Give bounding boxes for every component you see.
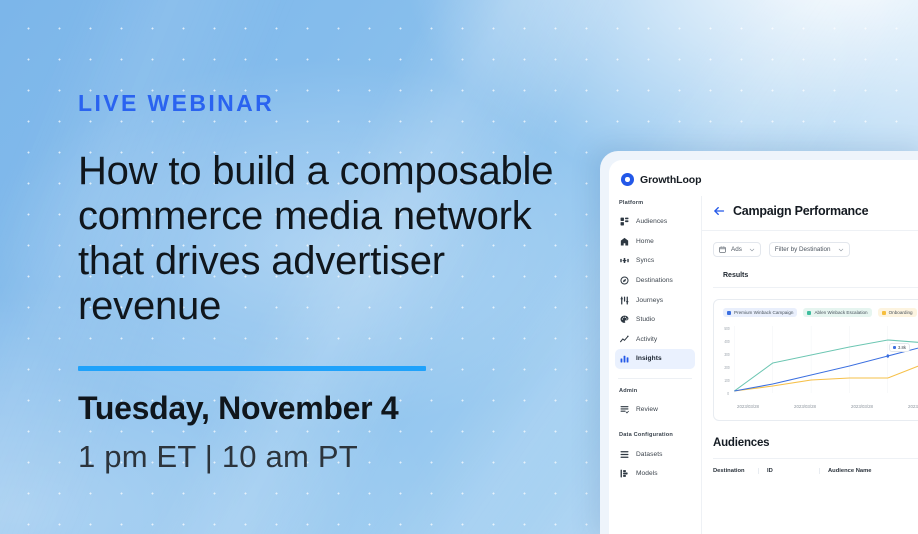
sidebar-group-label-admin: Admin [609, 388, 701, 400]
destination-filter-value: Filter by Destination [775, 246, 831, 253]
legend-item[interactable]: Ablen Winback Escalation [803, 308, 871, 317]
webinar-promo-graphic: LIVE WEBINAR How to build a composable c… [0, 0, 918, 534]
x-tick-label: 2023/03/28 [794, 404, 851, 409]
chevron-down-icon [838, 247, 844, 253]
growthloop-logo-icon [621, 173, 634, 186]
chart-x-axis: 2023/03/28 2023/03/28 2023/03/28 2023/03… [723, 404, 918, 409]
page-title: How to build a composable commerce media… [78, 149, 568, 329]
x-tick-label: 2023/03/28 [908, 404, 918, 409]
app-window: GrowthLoop Platform Audiences Home [609, 160, 918, 534]
legend-swatch [882, 311, 886, 315]
chart-tooltip: 3.8k [889, 343, 910, 352]
sidebar-item-label: Activity [636, 336, 657, 343]
event-time: 1 pm ET | 10 am PT [78, 437, 358, 477]
datasets-icon [620, 450, 629, 459]
sidebar-item-label: Destinations [636, 277, 673, 284]
sidebar-item-label: Audiences [636, 218, 667, 225]
models-icon [620, 469, 629, 478]
date-range-select[interactable]: Ads [713, 242, 761, 257]
insights-icon [620, 354, 629, 363]
svg-text:0: 0 [727, 392, 729, 397]
results-label: Results [702, 257, 918, 287]
sidebar-item-label: Home [636, 238, 654, 245]
chart-plot-area: 500 400 300 200 100 0 [723, 324, 918, 416]
calendar-icon [719, 246, 726, 253]
audiences-icon [620, 217, 629, 226]
svg-text:500: 500 [724, 327, 729, 332]
journeys-icon [620, 296, 629, 305]
sidebar-item-destinations[interactable]: Destinations [615, 271, 695, 291]
sidebar-item-label: Syncs [636, 257, 654, 264]
svg-text:200: 200 [724, 366, 729, 371]
sidebar-item-syncs[interactable]: Syncs [615, 251, 695, 271]
chevron-down-icon [749, 247, 755, 253]
sidebar-item-insights[interactable]: Insights [615, 349, 695, 369]
sidebar-item-journeys[interactable]: Journeys [615, 290, 695, 310]
chart-legend: Premium Winback Campaign Ablen Winback E… [723, 308, 918, 317]
accent-divider [78, 366, 426, 371]
filters-row: Ads Filter by Destination [702, 231, 918, 257]
legend-item[interactable]: Premium Winback Campaign [723, 308, 797, 317]
sidebar-group-label-platform: Platform [609, 200, 701, 212]
destination-filter-select[interactable]: Filter by Destination [769, 242, 850, 257]
app-logo-bar: GrowthLoop [609, 160, 918, 196]
tooltip-swatch [893, 346, 896, 349]
sidebar-item-models[interactable]: Models [615, 464, 695, 484]
sidebar-group-label-data-configuration: Data Configuration [609, 419, 701, 444]
audiences-table-header: Destination ID Audience Name [702, 459, 918, 474]
review-icon [620, 405, 629, 414]
studio-icon [620, 315, 629, 324]
x-tick-label: 2023/03/28 [851, 404, 908, 409]
column-header-destination: Destination [713, 468, 758, 474]
sidebar-item-label: Journeys [636, 297, 663, 304]
tooltip-value: 3.8k [898, 345, 906, 350]
line-chart-svg: 500 400 300 200 100 0 [723, 324, 918, 402]
eyebrow-label: LIVE WEBINAR [78, 92, 578, 115]
sidebar-item-studio[interactable]: Studio [615, 310, 695, 330]
column-header-id: ID [758, 468, 819, 474]
svg-text:100: 100 [724, 379, 729, 384]
sidebar-item-label: Review [636, 406, 658, 413]
event-date: Tuesday, November 4 [78, 388, 398, 428]
main-pane: Campaign Performance Ads Filter by Desti… [701, 196, 918, 534]
home-icon [620, 237, 629, 246]
brand-name: GrowthLoop [640, 174, 701, 186]
legend-swatch [727, 311, 731, 315]
results-chart-card: Premium Winback Campaign Ablen Winback E… [713, 299, 918, 421]
legend-label: Onboarding [889, 310, 913, 315]
audiences-section-title: Audiences [702, 421, 918, 458]
activity-icon [620, 335, 629, 344]
page-header: Campaign Performance [702, 196, 918, 231]
x-tick-label: 2023/03/28 [737, 404, 794, 409]
app-mockup-frame: GrowthLoop Platform Audiences Home [600, 151, 918, 534]
sidebar-item-audiences[interactable]: Audiences [615, 212, 695, 232]
sidebar-item-label: Models [636, 470, 658, 477]
svg-text:300: 300 [724, 353, 729, 358]
destinations-icon [620, 276, 629, 285]
sidebar-item-label: Insights [636, 355, 662, 362]
sidebar-item-home[interactable]: Home [615, 232, 695, 252]
legend-label: Premium Winback Campaign [734, 310, 793, 315]
syncs-icon [620, 256, 629, 265]
results-divider [713, 287, 918, 288]
column-header-audience-name: Audience Name [819, 468, 872, 474]
legend-item[interactable]: Onboarding [878, 308, 917, 317]
campaign-performance-title: Campaign Performance [733, 204, 868, 218]
sidebar-divider [618, 378, 692, 379]
sidebar-item-review[interactable]: Review [615, 400, 695, 420]
svg-text:400: 400 [724, 340, 729, 345]
legend-swatch [807, 311, 811, 315]
sidebar-item-label: Datasets [636, 451, 662, 458]
promo-copy: LIVE WEBINAR How to build a composable c… [78, 92, 578, 329]
sidebar: Platform Audiences Home Syncs [609, 196, 701, 534]
date-range-value: Ads [731, 246, 742, 253]
sidebar-item-datasets[interactable]: Datasets [615, 444, 695, 464]
back-arrow-icon[interactable] [713, 205, 725, 217]
sidebar-item-activity[interactable]: Activity [615, 330, 695, 350]
app-body: Platform Audiences Home Syncs [609, 196, 918, 534]
sidebar-item-label: Studio [636, 316, 655, 323]
legend-label: Ablen Winback Escalation [814, 310, 867, 315]
